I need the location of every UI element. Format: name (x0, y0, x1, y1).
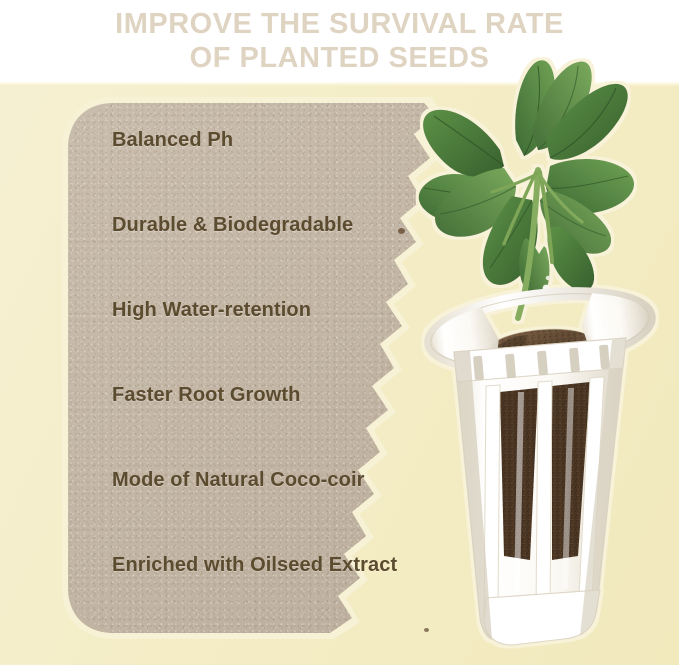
feature-item: Faster Root Growth (112, 385, 300, 405)
feature-item: Balanced Ph (112, 130, 233, 150)
product-illustration (400, 0, 679, 665)
seedling-in-coco-coir-plug (400, 0, 679, 665)
feature-item: Enriched with Oilseed Extract (112, 555, 397, 575)
infographic-canvas: IMPROVE THE SURVIVAL RATE OF PLANTED SEE… (0, 0, 679, 665)
feature-item: High Water-retention (112, 300, 311, 320)
soil-fleck-icon (424, 628, 429, 632)
soil-fleck-icon (398, 228, 405, 234)
white-net-pot (427, 283, 654, 645)
feature-item: Durable & Biodegradable (112, 215, 353, 235)
feature-item: Mode of Natural Coco-coir (112, 470, 365, 490)
basil-seedling-leaves (419, 60, 634, 318)
